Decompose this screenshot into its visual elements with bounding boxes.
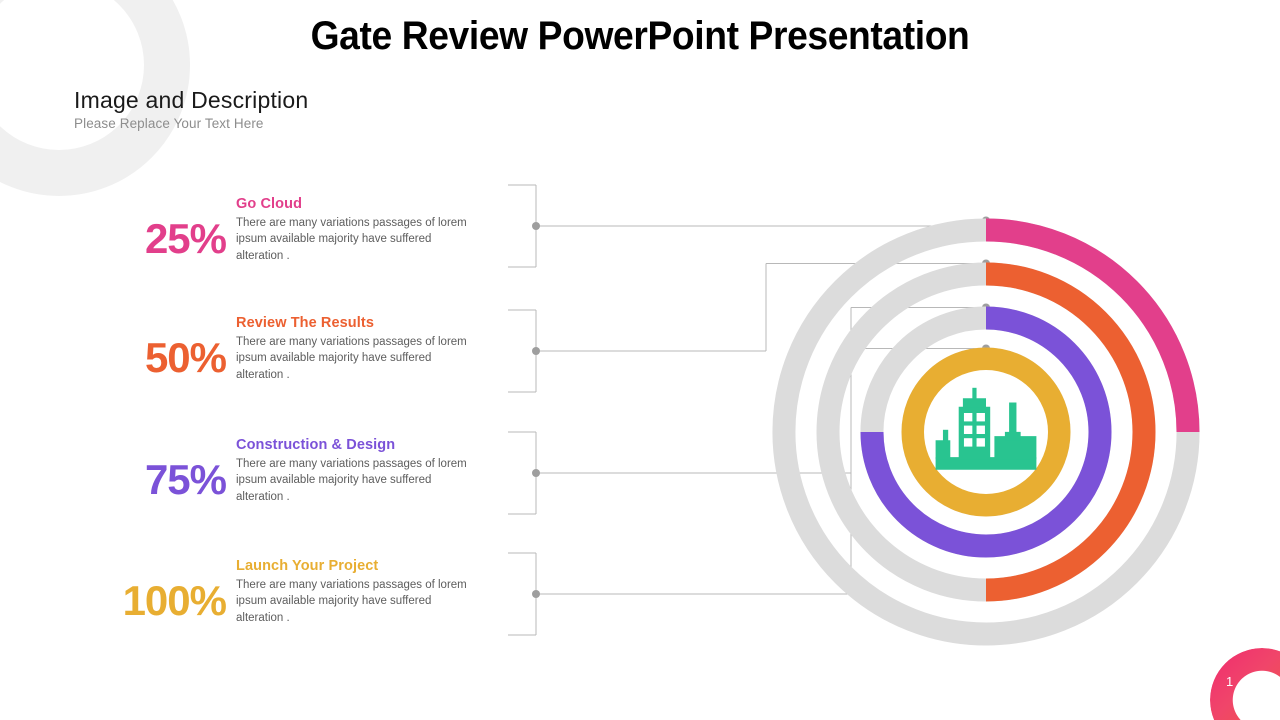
item-description: There are many variations passages of lo… xyxy=(236,456,468,505)
item-percent: 25% xyxy=(142,218,226,260)
item-percent: 50% xyxy=(142,337,226,379)
slide-canvas: Gate Review PowerPoint Presentation Imag… xyxy=(0,0,1280,720)
item-percent: 100% xyxy=(122,580,226,622)
item-description: There are many variations passages of lo… xyxy=(236,334,468,383)
list-item[interactable]: 50% Review The Results There are many va… xyxy=(142,315,468,383)
list-item[interactable]: 25% Go Cloud There are many variations p… xyxy=(142,196,468,264)
list-item[interactable]: 75% Construction & Design There are many… xyxy=(134,437,468,505)
page-number: 1 xyxy=(1226,674,1233,689)
page-number-badge: 1 xyxy=(1188,628,1280,720)
item-title: Construction & Design xyxy=(236,437,468,454)
item-percent: 75% xyxy=(134,459,226,501)
item-title: Review The Results xyxy=(236,315,468,332)
item-title: Go Cloud xyxy=(236,196,468,213)
item-title: Launch Your Project xyxy=(236,558,468,575)
item-description: There are many variations passages of lo… xyxy=(236,215,468,264)
list-item[interactable]: 100% Launch Your Project There are many … xyxy=(122,558,468,626)
badge-ring-shape xyxy=(1210,648,1280,720)
item-description: There are many variations passages of lo… xyxy=(236,577,468,626)
